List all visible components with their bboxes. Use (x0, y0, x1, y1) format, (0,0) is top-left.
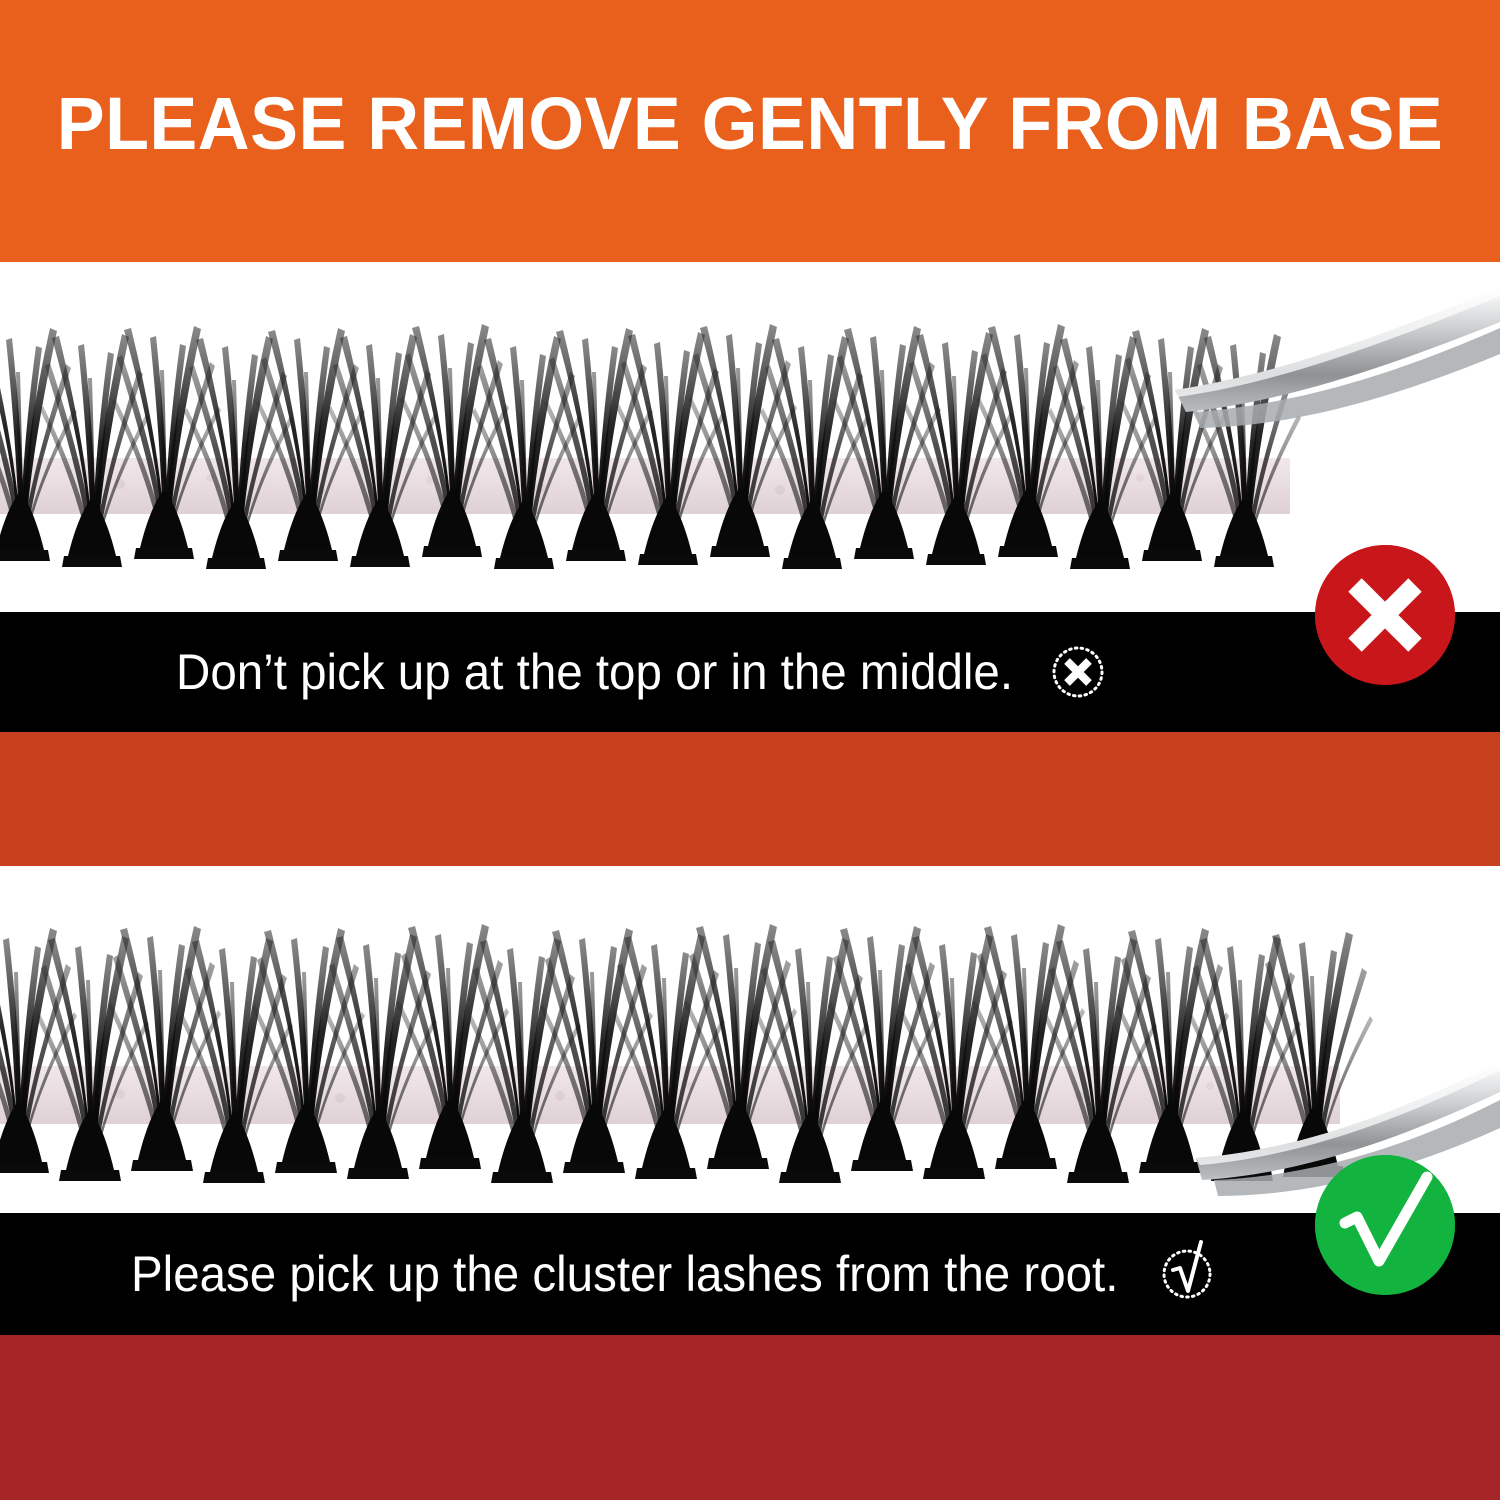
check-mark-dotted-circle-icon (1159, 1246, 1215, 1302)
instruction-bar-incorrect: Don’t pick up at the top or in the middl… (0, 612, 1500, 732)
x-mark-badge (1315, 545, 1455, 685)
instruction-text-incorrect: Don’t pick up at the top or in the middl… (176, 644, 1013, 700)
x-mark-dotted-circle-icon (1050, 644, 1106, 700)
instruction-infographic: PLEASE REMOVE GENTLY FROM BASE (0, 0, 1500, 1500)
photo-correct-pickup (0, 866, 1500, 1213)
page-title: PLEASE REMOVE GENTLY FROM BASE (23, 82, 1478, 166)
photo-incorrect-pickup (0, 262, 1500, 612)
instruction-bar-correct: Please pick up the cluster lashes from t… (0, 1213, 1500, 1335)
instruction-text-correct: Please pick up the cluster lashes from t… (131, 1246, 1118, 1302)
header-banner: PLEASE REMOVE GENTLY FROM BASE (0, 0, 1500, 262)
divider-band-mid (0, 732, 1500, 866)
lash-tray-illustration-bottom (0, 866, 1500, 1213)
divider-band-bottom (0, 1335, 1500, 1500)
lash-tray-illustration-top (0, 262, 1500, 612)
check-mark-badge (1315, 1155, 1455, 1295)
